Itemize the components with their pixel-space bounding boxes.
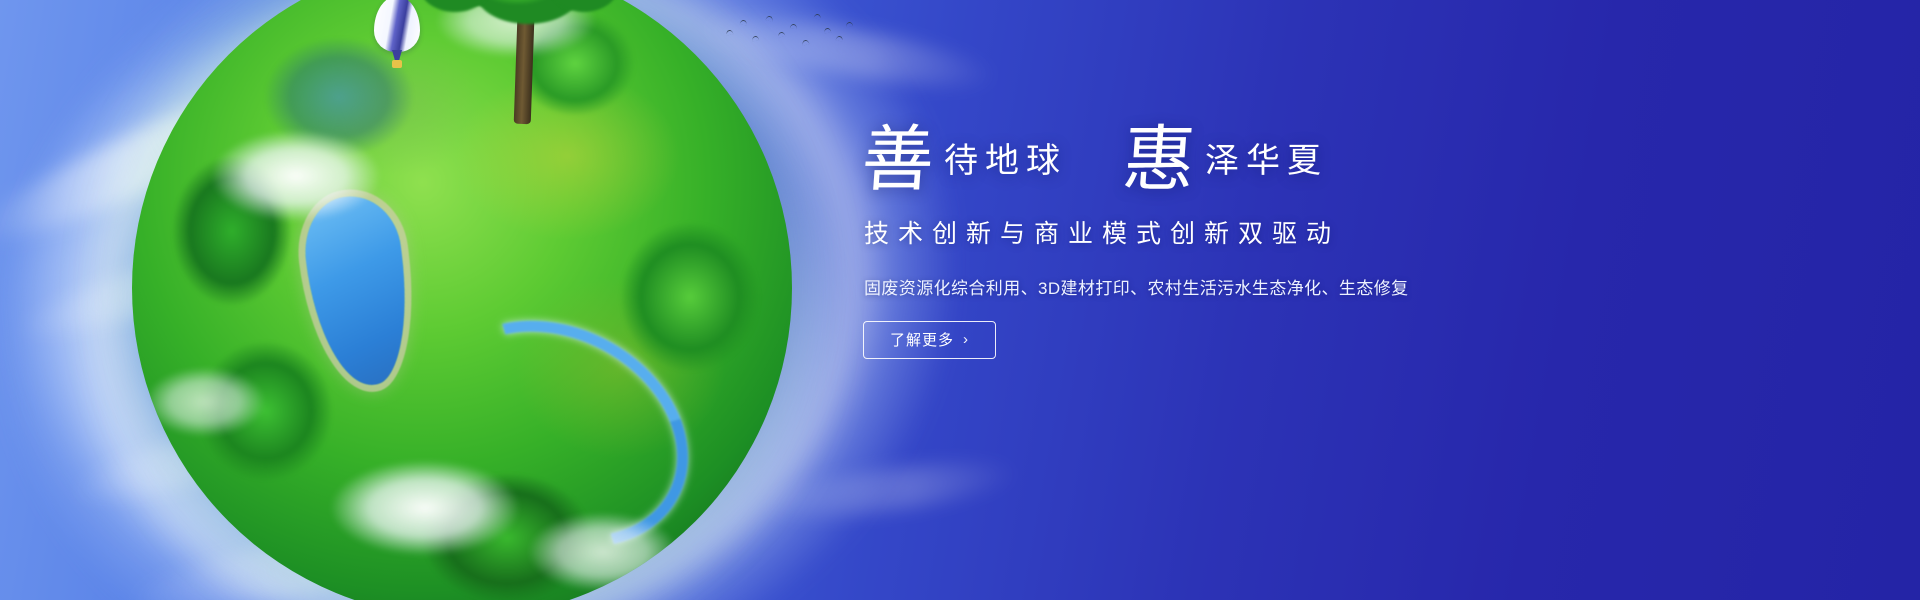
tree-canopy bbox=[436, 0, 532, 6]
bird-flock bbox=[724, 10, 854, 54]
forest-cluster bbox=[515, 11, 635, 116]
headline-phrase-one: 善 待地球 bbox=[862, 126, 1067, 194]
cloud-streak bbox=[12, 192, 388, 353]
hot-air-balloon bbox=[374, 0, 420, 80]
cloud-streak bbox=[61, 352, 489, 521]
bird-icon bbox=[740, 20, 748, 26]
bird-icon bbox=[752, 36, 759, 42]
cloud bbox=[528, 512, 678, 592]
forest-cluster bbox=[172, 156, 292, 306]
hero-banner: 善 待地球 惠 泽华夏 技术创新与商业模式创新双驱动 固废资源化综合利用、3D建… bbox=[0, 0, 1920, 600]
cloud-streak bbox=[0, 37, 374, 263]
forest-cluster bbox=[198, 341, 333, 481]
forest-cluster bbox=[264, 37, 414, 157]
bird-icon bbox=[790, 24, 797, 30]
tree-canopy bbox=[494, 0, 612, 4]
headline-chars-small: 泽华夏 bbox=[1205, 136, 1328, 194]
bird-icon bbox=[824, 28, 832, 34]
headline-char-large: 惠 bbox=[1121, 126, 1198, 194]
chevron-right-icon: › bbox=[963, 332, 969, 347]
cloud bbox=[436, 0, 596, 58]
balloon-neck bbox=[392, 50, 402, 60]
planet-sphere bbox=[132, 0, 792, 600]
cloud bbox=[211, 130, 381, 222]
bird-icon bbox=[814, 13, 822, 19]
bird-icon bbox=[726, 29, 734, 35]
cloud-streak bbox=[758, 452, 1021, 528]
banner-subtitle: 技术创新与商业模式创新双驱动 bbox=[864, 214, 1622, 250]
balloon-envelope bbox=[374, 0, 420, 52]
river bbox=[389, 276, 729, 591]
tree-on-planet bbox=[420, 0, 630, 108]
banner-description: 固废资源化综合利用、3D建材打印、农村生活污水生态净化、生态修复 bbox=[864, 274, 1622, 299]
headline-chars-small: 待地球 bbox=[944, 136, 1067, 194]
cloud-streak bbox=[120, 467, 641, 600]
headline-char-large: 善 bbox=[860, 126, 937, 194]
bird-icon bbox=[778, 31, 786, 37]
learn-more-label: 了解更多 bbox=[890, 329, 954, 350]
bird-icon bbox=[765, 15, 773, 22]
learn-more-button[interactable]: 了解更多 › bbox=[863, 321, 996, 359]
lake bbox=[299, 190, 417, 390]
cloud bbox=[145, 367, 265, 437]
tree-canopy bbox=[476, 0, 580, 24]
cloud bbox=[330, 460, 520, 556]
balloon-basket bbox=[392, 60, 402, 68]
green-planet-illustration bbox=[132, 0, 792, 600]
tree-canopy bbox=[420, 0, 490, 12]
sky-haze-secondary bbox=[0, 0, 968, 600]
headline-phrase-two: 惠 泽华夏 bbox=[1123, 126, 1328, 194]
forest-cluster bbox=[620, 222, 760, 372]
cloud-streak bbox=[698, 4, 1001, 99]
bird-icon bbox=[846, 22, 853, 28]
banner-content: 善 待地球 惠 泽华夏 技术创新与商业模式创新双驱动 固废资源化综合利用、3D建… bbox=[862, 126, 1622, 359]
forest-cluster bbox=[422, 473, 592, 600]
page-title: 善 待地球 惠 泽华夏 bbox=[862, 126, 1622, 194]
tree-canopy bbox=[548, 0, 620, 12]
bird-icon bbox=[836, 35, 844, 41]
tree-trunk bbox=[514, 0, 536, 124]
bird-icon bbox=[801, 39, 809, 46]
